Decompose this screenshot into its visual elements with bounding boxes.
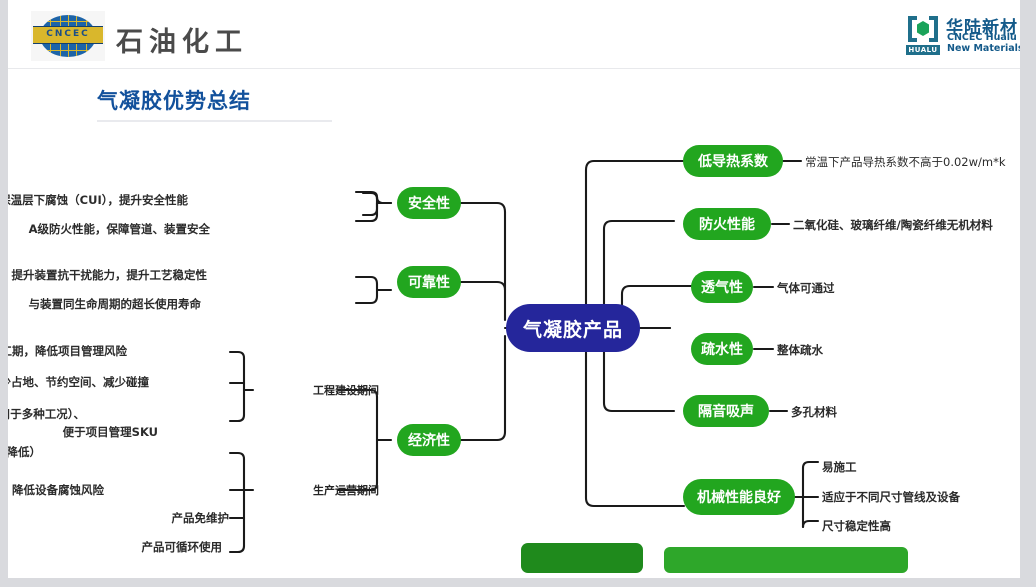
leaf-reliability-2: 与装置同生命周期的超长使用寿命 [29, 296, 202, 312]
branch-node-safety[interactable]: 安全性 [397, 187, 461, 219]
leaf-hydrophobic-1: 整体疏水 [777, 342, 823, 358]
leaf-safety-1: 防御保温层下腐蚀（CUI），提升安全性能 [8, 192, 188, 208]
leaf-operation-3: 产品免维护 [172, 510, 230, 526]
mindmap: 防御保温层下腐蚀（CUI），提升安全性能 A级防火性能，保障管道、装置安全 提升… [8, 0, 1020, 578]
leaf-operation-1: 节能效益（热损降低、蒸汽消耗降低、能源消耗降低） [8, 444, 41, 460]
branch-node-economy[interactable]: 经济性 [397, 424, 461, 456]
branch-node-soundproof[interactable]: 隔音吸声 [683, 395, 769, 427]
branch-node-hydrophobic[interactable]: 疏水性 [691, 333, 753, 365]
leaf-operation-2: 保障设备使用寿命、降低设备腐蚀风险 [8, 482, 104, 498]
slide-canvas: CNCEC 石油化工 HUALU 华陆新材 CNCEC Hualu New Ma… [8, 0, 1020, 578]
center-node-product[interactable]: 气凝胶产品 [506, 304, 640, 352]
leaf-construction-3: 材料管理简单（一种材料可用于多种工况）、 [8, 406, 85, 422]
leaf-fireproof-1: 二氧化硅、玻璃纤维/陶瓷纤维无机材料 [793, 217, 993, 233]
branch-node-breathable[interactable]: 透气性 [691, 271, 753, 303]
leaf-construction-4: 便于项目管理SKU [63, 424, 158, 440]
leaf-construction-2: 减少占地、节约空间、减少碰撞 [8, 374, 149, 390]
leaf-safety-2: A级防火性能，保障管道、装置安全 [29, 221, 210, 237]
group-label-construction: 工程建设期间 [313, 382, 379, 398]
branch-node-mechanical[interactable]: 机械性能良好 [683, 479, 795, 515]
leaf-mechanical-2: 适应于不同尺寸管线及设备 [822, 489, 960, 505]
bottom-shape-left [521, 543, 643, 573]
leaf-mechanical-3: 尺寸稳定性高 [822, 518, 891, 534]
leaf-construction-1: 缩减项目工期，降低项目管理风险 [8, 343, 127, 359]
group-label-operation: 生产运营期间 [313, 482, 379, 498]
bottom-shape-right [664, 547, 908, 573]
leaf-low-conductivity-1: 常温下产品导热系数不高于0.02w/m*k [805, 154, 1006, 170]
leaf-mechanical-1: 易施工 [822, 459, 857, 475]
leaf-soundproof-1: 多孔材料 [791, 404, 837, 420]
leaf-breathable-1: 气体可通过 [777, 280, 835, 296]
branch-node-low-conductivity[interactable]: 低导热系数 [683, 145, 783, 177]
leaf-reliability-1: 提升装置抗干扰能力，提升工艺稳定性 [12, 267, 208, 283]
branch-node-fireproof[interactable]: 防火性能 [683, 208, 771, 240]
branch-node-reliability[interactable]: 可靠性 [397, 266, 461, 298]
leaf-operation-4: 产品可循环使用 [142, 539, 223, 555]
